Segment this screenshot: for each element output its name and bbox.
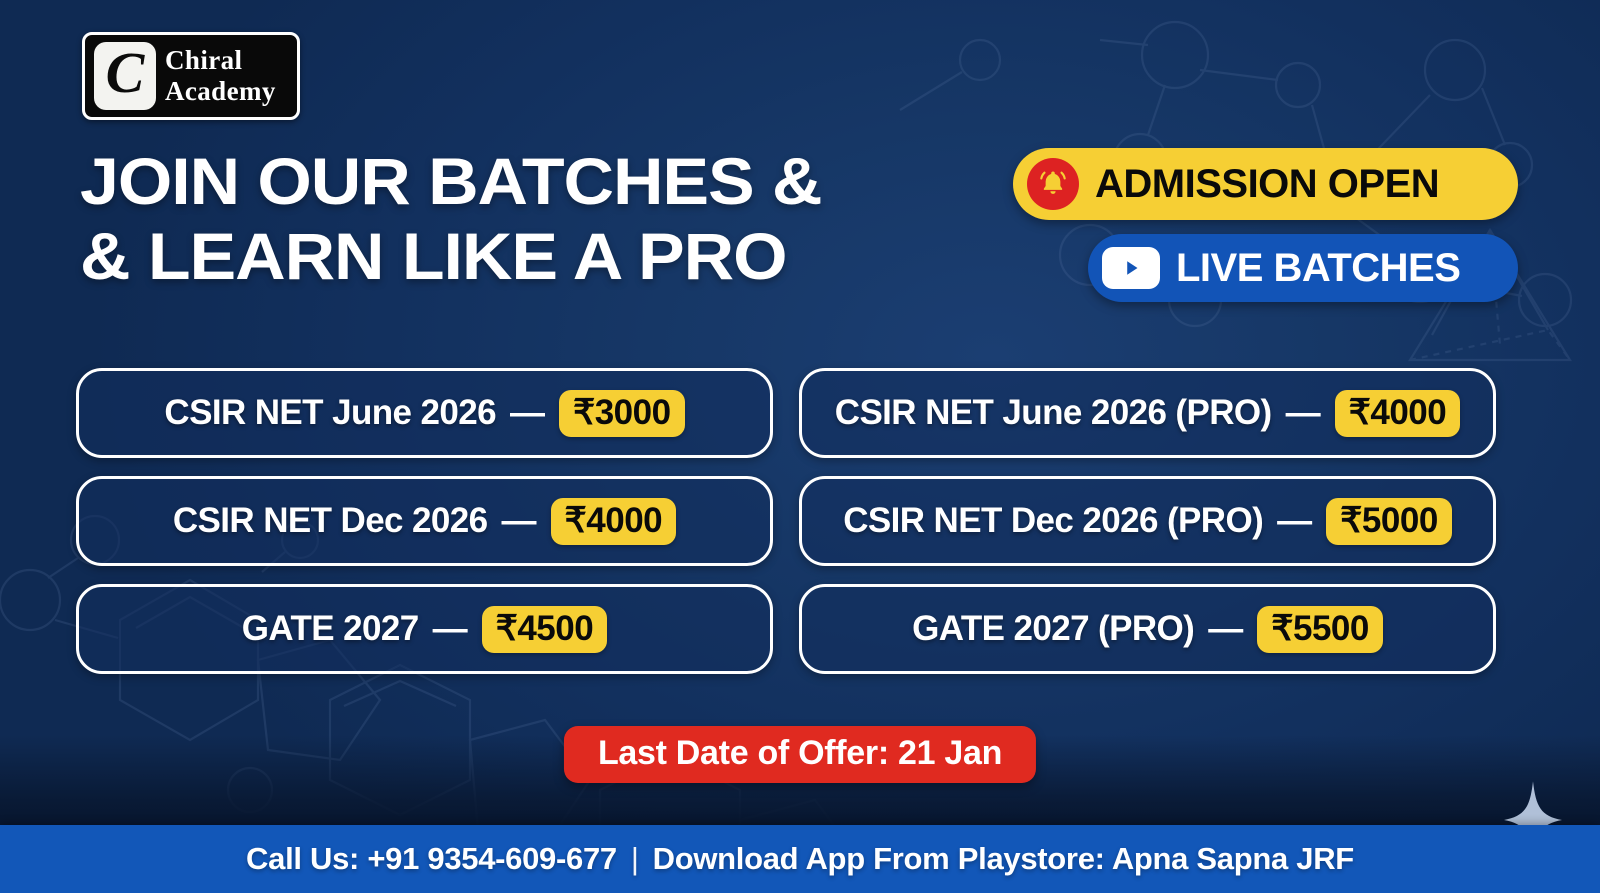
footer-app-label[interactable]: Download App From Playstore: Apna Sapna … bbox=[653, 841, 1354, 877]
course-card[interactable]: GATE 2027 — ₹4500 bbox=[76, 584, 773, 674]
brand-name-line2: Academy bbox=[165, 78, 276, 105]
footer-contact: Call Us: +91 9354-609-677 | Download App… bbox=[246, 841, 1354, 877]
footer-separator: | bbox=[631, 841, 639, 877]
promo-banner: C Chiral Academy JOIN OUR BATCHES & & LE… bbox=[0, 0, 1600, 893]
course-card[interactable]: CSIR NET Dec 2026 (PRO) — ₹5000 bbox=[799, 476, 1496, 566]
admission-open-badge[interactable]: ADMISSION OPEN bbox=[1013, 148, 1518, 220]
footer-call-label[interactable]: Call Us: +91 9354-609-677 bbox=[246, 841, 617, 877]
course-card[interactable]: CSIR NET June 2026 — ₹3000 bbox=[76, 368, 773, 458]
course-list: CSIR NET June 2026 — ₹3000 CSIR NET June… bbox=[76, 368, 1496, 674]
headline: JOIN OUR BATCHES & & LEARN LIKE A PRO bbox=[80, 148, 1034, 291]
live-batches-label: LIVE BATCHES bbox=[1176, 248, 1460, 288]
course-dash: — bbox=[510, 393, 545, 433]
admission-open-label: ADMISSION OPEN bbox=[1095, 164, 1439, 204]
course-card[interactable]: CSIR NET Dec 2026 — ₹4000 bbox=[76, 476, 773, 566]
course-dash: — bbox=[433, 609, 468, 649]
course-dash: — bbox=[502, 501, 537, 541]
footer-bar: Call Us: +91 9354-609-677 | Download App… bbox=[0, 825, 1600, 893]
course-card[interactable]: GATE 2027 (PRO) — ₹5500 bbox=[799, 584, 1496, 674]
course-card[interactable]: CSIR NET June 2026 (PRO) — ₹4000 bbox=[799, 368, 1496, 458]
course-price: ₹5500 bbox=[1257, 606, 1383, 653]
course-dash: — bbox=[1286, 393, 1321, 433]
bell-icon bbox=[1027, 158, 1079, 210]
course-name: GATE 2027 (PRO) bbox=[912, 609, 1194, 649]
course-name: CSIR NET Dec 2026 (PRO) bbox=[843, 501, 1263, 541]
course-name: CSIR NET Dec 2026 bbox=[173, 501, 488, 541]
headline-line1: JOIN OUR BATCHES & bbox=[80, 144, 821, 218]
course-price: ₹3000 bbox=[559, 390, 685, 437]
course-name: CSIR NET June 2026 bbox=[164, 393, 496, 433]
badge-group: ADMISSION OPEN LIVE BATCHES bbox=[1013, 148, 1518, 302]
course-dash: — bbox=[1277, 501, 1312, 541]
course-price: ₹4000 bbox=[551, 498, 677, 545]
brand-name-line1: Chiral bbox=[165, 47, 276, 74]
brand-name: Chiral Academy bbox=[165, 47, 276, 105]
brand-logo: C Chiral Academy bbox=[82, 32, 300, 120]
youtube-play-icon bbox=[1102, 247, 1160, 289]
course-name: GATE 2027 bbox=[242, 609, 419, 649]
course-price: ₹4000 bbox=[1335, 390, 1461, 437]
headline-line2: & LEARN LIKE A PRO bbox=[80, 223, 1034, 290]
logo-mark-letter: C bbox=[94, 42, 156, 110]
course-price: ₹4500 bbox=[482, 606, 608, 653]
offer-deadline-badge: Last Date of Offer: 21 Jan bbox=[564, 726, 1036, 783]
course-price: ₹5000 bbox=[1326, 498, 1452, 545]
live-batches-badge[interactable]: LIVE BATCHES bbox=[1088, 234, 1518, 302]
course-dash: — bbox=[1208, 609, 1243, 649]
course-name: CSIR NET June 2026 (PRO) bbox=[835, 393, 1272, 433]
